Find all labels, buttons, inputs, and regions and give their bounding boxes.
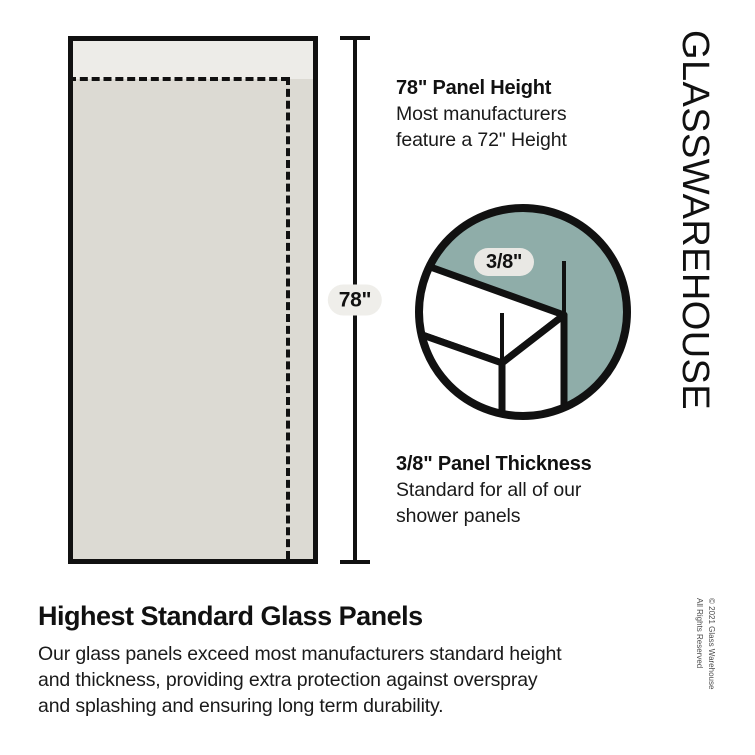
callout-thickness-title: 3/8" Panel Thickness	[396, 452, 646, 476]
callout-thickness-body-line1: Standard for all of our	[396, 478, 646, 503]
panel-height-dimension: 78"	[340, 36, 370, 564]
callout-panel-height: 78" Panel Height Most manufacturers feat…	[396, 76, 646, 153]
copyright-line-2: All Rights Reserved	[694, 598, 706, 689]
bottom-paragraph-line1: Our glass panels exceed most manufacture…	[38, 642, 668, 668]
callout-panel-thickness: 3/8" Panel Thickness Standard for all of…	[396, 452, 646, 529]
bottom-paragraph-line3: and splashing and ensuring long term dur…	[38, 694, 668, 720]
infographic-canvas: 78" 78" Panel Height Most manufacturers …	[0, 0, 755, 755]
brand-wordmark-text: GLASSWAREHOUSE	[676, 30, 714, 410]
bottom-paragraph-line2: and thickness, providing extra protectio…	[38, 668, 668, 694]
thickness-value-badge: 3/8"	[474, 248, 534, 276]
bottom-description-block: Highest Standard Glass Panels Our glass …	[38, 600, 668, 720]
callout-height-title: 78" Panel Height	[396, 76, 646, 100]
panel-shaded-fill	[73, 79, 313, 559]
copyright-line-1: © 2021 Glass Warehouse	[706, 598, 718, 689]
glass-edge-thickness-detail: 3/8"	[414, 203, 632, 421]
copyright-text-block: © 2021 Glass Warehouse All Rights Reserv…	[694, 598, 717, 689]
callout-thickness-body-line2: shower panels	[396, 504, 646, 529]
edge-detail-svg	[414, 203, 632, 421]
dimension-value-badge: 78"	[328, 285, 382, 316]
standard-height-dashed-line-vertical	[286, 77, 290, 559]
standard-height-dashed-line-horizontal	[68, 77, 289, 81]
brand-wordmark: GLASSWAREHOUSE	[676, 30, 726, 450]
dimension-cap-bottom	[340, 560, 370, 564]
glass-panel-illustration	[68, 36, 318, 564]
callout-height-body-line2: feature a 72" Height	[396, 128, 646, 153]
bottom-heading: Highest Standard Glass Panels	[38, 600, 668, 632]
copyright-notice: © 2021 Glass Warehouse All Rights Reserv…	[694, 598, 734, 718]
callout-height-body-line1: Most manufacturers	[396, 102, 646, 127]
